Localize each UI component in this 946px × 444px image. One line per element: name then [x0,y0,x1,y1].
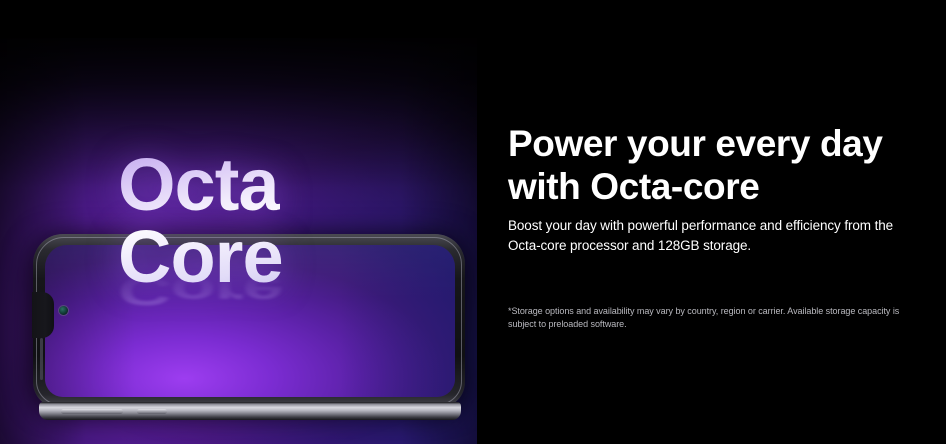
headline: Power your every day with Octa-core [508,122,908,208]
power-button [137,409,167,414]
headline-line-2: with Octa-core [508,165,908,208]
promo-banner: Core Octa Core Power your every day with… [0,0,946,444]
smartphone-device [33,234,465,444]
copy-panel: Power your every day with Octa-core Boos… [508,0,918,444]
body-copy: Boost your day with powerful performance… [508,216,904,256]
earpiece-speaker [40,338,43,380]
waterdrop-notch [32,292,54,338]
product-visual-panel: Core Octa Core [0,38,477,444]
disclaimer-text: *Storage options and availability may va… [508,305,908,331]
volume-button [61,409,123,414]
headline-line-1: Power your every day [508,122,908,165]
device-screen [45,245,455,397]
screen-sheen [45,245,455,397]
front-camera-icon [59,306,68,315]
